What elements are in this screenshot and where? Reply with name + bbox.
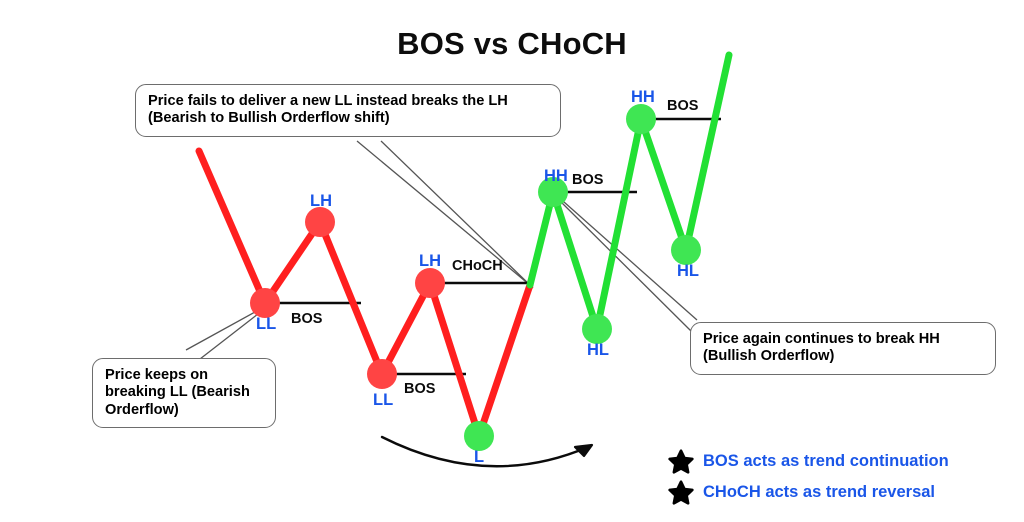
diagram-canvas: BOS vs CHoCH bbox=[0, 0, 1024, 522]
callout-bullish: Price again continues to break HH (Bulli… bbox=[690, 322, 996, 375]
callout-choch: Price fails to deliver a new LL instead … bbox=[135, 84, 561, 137]
seg-bos-4: BOS bbox=[667, 98, 698, 114]
label-hh-2: HH bbox=[631, 88, 655, 107]
label-lh-2: LH bbox=[419, 252, 441, 271]
swing-point-l bbox=[464, 421, 494, 451]
swing-point-hh-2 bbox=[626, 104, 656, 134]
label-lh-1: LH bbox=[310, 192, 332, 211]
price-structure-layer bbox=[0, 0, 1024, 522]
label-ll-1: LL bbox=[256, 315, 276, 334]
swing-point-ll-2 bbox=[367, 359, 397, 389]
legend: BOS acts as trend continuation CHoCH act… bbox=[668, 446, 949, 508]
seg-bos-3: BOS bbox=[572, 172, 603, 188]
swing-point-lh-1 bbox=[305, 207, 335, 237]
label-hh-1: HH bbox=[544, 167, 568, 186]
legend-label-choch: CHoCH acts as trend reversal bbox=[703, 483, 935, 502]
callout-bearish: Price keeps on breaking LL (Bearish Orde… bbox=[92, 358, 276, 428]
seg-bos-1: BOS bbox=[291, 311, 322, 327]
legend-label-bos: BOS acts as trend continuation bbox=[703, 452, 949, 471]
legend-item-choch: CHoCH acts as trend reversal bbox=[668, 477, 949, 508]
seg-choch: CHoCH bbox=[452, 258, 503, 274]
label-hl-2: HL bbox=[677, 262, 699, 281]
label-hl-1: HL bbox=[587, 341, 609, 360]
star-icon bbox=[668, 480, 694, 506]
label-l: L bbox=[474, 448, 484, 467]
legend-item-bos: BOS acts as trend continuation bbox=[668, 446, 949, 477]
swing-point-hl-2 bbox=[671, 235, 701, 265]
swing-point-lh-2 bbox=[415, 268, 445, 298]
swing-point-ll-1 bbox=[250, 288, 280, 318]
swing-point-hl-1 bbox=[582, 314, 612, 344]
seg-bos-2: BOS bbox=[404, 381, 435, 397]
label-ll-2: LL bbox=[373, 391, 393, 410]
star-icon bbox=[668, 449, 694, 475]
